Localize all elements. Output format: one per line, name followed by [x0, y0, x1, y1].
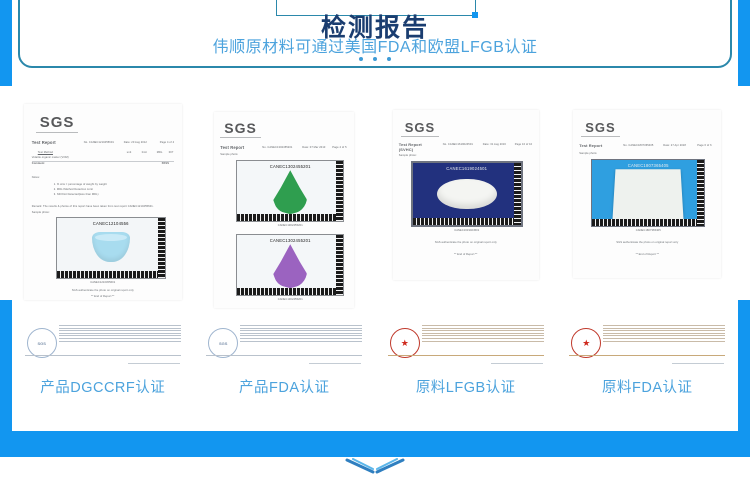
report-date: Date: 07 Mar 2013	[302, 146, 325, 150]
certificate-label-cell: SGS 产品DGCCRF认证	[12, 322, 194, 402]
result-row: Volatile organic matter (VOM)	[32, 156, 69, 160]
note-item: 2. MDL=Method Detection Limit	[54, 188, 93, 192]
report-date: Date: 31 Aug 2016	[483, 143, 506, 147]
report-subtitle: (SVHC)	[399, 147, 413, 153]
certificate-cell: SGS Test Report No. CANEC1302455201 Date…	[194, 104, 376, 304]
decor-dots	[0, 57, 750, 61]
certificate-label: 产品FDA认证	[239, 376, 330, 397]
certificate-document[interactable]: SGS Test Report No. CANEC1807365405 Date…	[573, 110, 721, 278]
page-subtitle: 伟顺原材料可通过美国FDA和欧盟LFGB认证	[0, 33, 750, 57]
letterhead-thumbnail[interactable]: ★	[567, 322, 727, 364]
note-item: 3. ND=Not Detected(less than MDL)	[54, 193, 99, 197]
report-page: Page 4 of 4	[160, 141, 174, 145]
certificate-document[interactable]: SGS Test Report No. CANEC1210455601 Date…	[24, 104, 182, 300]
seal-icon: ★	[571, 328, 601, 358]
sgs-logo: SGS	[224, 120, 257, 136]
end-of-report-note: ** End of Report **	[573, 252, 721, 256]
report-title: Test Report	[220, 145, 244, 151]
report-title: Test Report	[579, 143, 602, 149]
report-number: No. CANEC1210455601	[84, 141, 114, 145]
ruler-vertical	[336, 235, 343, 295]
photo-authenticate-note: SGS authenticate the photo on original r…	[573, 240, 721, 244]
report-number: No. CANEC1807365405	[623, 144, 653, 148]
ruler-horizontal	[237, 214, 343, 221]
ruler-vertical	[336, 161, 343, 221]
product-bowl-shape	[92, 232, 130, 262]
col-limit: limit	[142, 151, 147, 155]
photo-authenticate-note: SGS authenticate the photo on original r…	[24, 288, 182, 292]
report-date: Date: 27 Apr 2018	[663, 144, 686, 148]
letterhead-rule	[388, 355, 544, 356]
sample-photo-label: Sample photo:	[220, 153, 238, 157]
sgs-logo: SGS	[585, 120, 615, 135]
col-unit: unit	[127, 151, 132, 155]
certificate-label-cell: SGS 产品FDA认证	[194, 322, 376, 402]
ruler-horizontal	[592, 219, 704, 226]
certificate-label-cell: ★ 原料FDA认证	[557, 322, 739, 402]
sample-photo-code: CANEC1302455201	[237, 238, 343, 243]
ruler-vertical	[158, 218, 165, 278]
divider	[32, 161, 174, 162]
letterhead-text-lines	[59, 325, 181, 343]
report-title: Test Report	[32, 140, 56, 146]
end-of-report-note: ** End of Report **	[24, 294, 182, 298]
certificate-document[interactable]: SGS Test Report No. CANEC1302455201 Date…	[214, 112, 354, 308]
col-result: 007	[169, 151, 174, 155]
letterhead-rule	[569, 355, 725, 356]
ruler-horizontal	[57, 271, 165, 278]
report-remark: Remark: The results & photos of this rep…	[32, 205, 154, 209]
letterhead-rule	[25, 355, 181, 356]
ruler-horizontal	[237, 288, 343, 295]
sample-photo-caption: CANEC1807365405	[591, 229, 705, 233]
letterhead-footer-line	[309, 363, 361, 364]
conclusion-label: Comment	[32, 162, 45, 166]
letterhead-text-lines	[240, 325, 362, 343]
sample-photo-code: CANEC1619024501	[413, 166, 521, 171]
seal-icon: SGS	[208, 328, 238, 358]
sample-photo-code: CANEC1807365405	[592, 163, 704, 168]
chevron-down-icon	[343, 458, 407, 476]
sgs-logo: SGS	[405, 120, 435, 135]
sample-photo: CANEC12104556	[56, 217, 166, 279]
sample-photo: CANEC1807365405	[591, 159, 705, 227]
certificate-document[interactable]: SGS Test Report (SVHC) No. CANEC16190245…	[393, 110, 539, 280]
ruler-horizontal	[413, 218, 521, 225]
report-number: No. CANEC1619024501	[443, 143, 473, 147]
report-page: Page 10 of 10	[515, 143, 532, 147]
letterhead-thumbnail[interactable]: ★	[386, 322, 546, 364]
letterhead-footer-line	[672, 363, 724, 364]
letterhead-thumbnail[interactable]: SGS	[23, 322, 183, 364]
sample-photo: CANEC1302455201	[236, 234, 344, 296]
sample-photo-caption: CANEC1302455201	[236, 298, 344, 302]
certificate-label: 产品DGCCRF认证	[40, 376, 165, 397]
end-of-report-note: ** End of Report **	[393, 252, 539, 256]
star-icon: ★	[401, 339, 409, 348]
certification-section: 检测报告 伟顺原材料可通过美国FDA和欧盟LFGB认证 SGS Test Rep…	[0, 0, 750, 479]
certificate-label-row: SGS 产品DGCCRF认证 SGS 产品FDA认证	[12, 322, 738, 402]
letterhead-text-lines	[603, 325, 725, 343]
note-item: 1. % w/w = percentage of weight by weigh…	[54, 183, 107, 187]
conclusion-value: PASS	[162, 162, 169, 166]
scroll-down-indicator[interactable]	[0, 458, 750, 478]
sample-photo: CANEC1619024501	[411, 161, 523, 227]
section-head: Test Method	[38, 151, 53, 155]
certificate-image-row: SGS Test Report No. CANEC1210455601 Date…	[12, 104, 738, 304]
sample-photo-caption: CANEC1210455601	[24, 281, 182, 285]
letterhead-footer-line	[128, 363, 180, 364]
letterhead-footer-line	[491, 363, 543, 364]
certificate-cell: SGS Test Report No. CANEC1807365405 Date…	[557, 104, 739, 304]
decor-rail-bottom-left	[0, 300, 12, 432]
sample-photo-label: Sample photo:	[32, 211, 50, 215]
seal-icon: SGS	[27, 328, 57, 358]
sample-photo-caption: CANEC1302455201	[236, 224, 344, 228]
ruler-vertical	[697, 160, 704, 226]
sgs-logo: SGS	[40, 114, 75, 131]
product-sheet-shape	[613, 170, 684, 222]
report-page: Page 6 of 6	[697, 144, 711, 148]
letterhead-text-lines	[422, 325, 544, 343]
notes-label: Notes:	[32, 176, 40, 180]
col-mdl: MDL	[157, 151, 163, 155]
certificate-cell: SGS Test Report No. CANEC1210455601 Date…	[12, 104, 194, 304]
sample-photo-code: CANEC12104556	[57, 221, 165, 226]
decor-bottom-band	[0, 431, 750, 457]
certificate-label: 原料LFGB认证	[416, 376, 516, 397]
sample-photo: CANEC1302455201	[236, 160, 344, 222]
product-oval-shape	[437, 179, 497, 209]
product-drop-purple	[273, 244, 307, 288]
report-page: Page 4 of 5	[332, 146, 346, 150]
seal-icon: ★	[390, 328, 420, 358]
report-number: No. CANEC1302455201	[262, 146, 292, 150]
certificate-label: 原料FDA认证	[602, 376, 693, 397]
sample-photo-label: Sample photo:	[579, 152, 597, 156]
letterhead-thumbnail[interactable]: SGS	[204, 322, 364, 364]
certificate-label-cell: ★ 原料LFGB认证	[375, 322, 557, 402]
sample-photo-code: CANEC1302455201	[237, 164, 343, 169]
ruler-vertical	[514, 163, 521, 225]
photo-authenticate-note: SGS authenticate the photo on original r…	[393, 240, 539, 244]
product-drop-green	[273, 170, 307, 214]
letterhead-rule	[206, 355, 362, 356]
certificate-cell: SGS Test Report (SVHC) No. CANEC16190245…	[375, 104, 557, 304]
sample-photo-label: Sample photo:	[399, 154, 417, 158]
star-icon: ★	[582, 339, 590, 348]
sample-photo-caption: CANEC1619024501	[411, 229, 523, 233]
report-date: Date: 20 Aug 2012	[124, 141, 147, 145]
decor-rail-bottom-right	[738, 300, 750, 432]
